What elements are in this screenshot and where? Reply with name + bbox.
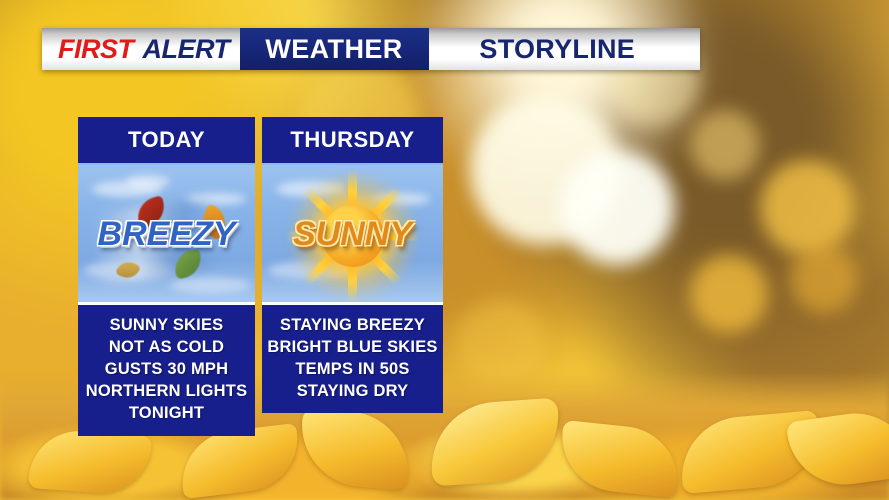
bokeh-light <box>560 150 675 265</box>
forecast-line: GUSTS 30 MPH <box>105 359 228 380</box>
banner-storyline-text: STORYLINE <box>479 36 635 63</box>
forecast-line: NORTHERN LIGHTS <box>86 381 248 402</box>
cloud-wisp <box>126 175 170 188</box>
forecast-details-today: SUNNY SKIES NOT AS COLD GUSTS 30 MPH NOR… <box>78 305 255 436</box>
forecast-line: TONIGHT <box>129 403 204 424</box>
banner-weather-segment: WEATHER <box>240 28 429 70</box>
bokeh-light <box>690 255 768 333</box>
forecast-panel-today: TODAY BREEZY SUNNY SKIES NOT AS COLD GUS… <box>78 117 255 436</box>
cloud-wisp <box>170 277 250 293</box>
bokeh-light <box>690 110 760 180</box>
forecast-line: SUNNY SKIES <box>110 315 224 336</box>
forecast-details-thursday: STAYING BREEZY BRIGHT BLUE SKIES TEMPS I… <box>262 305 443 413</box>
condition-word-sunny: SUNNY <box>262 217 443 251</box>
forecast-line: BRIGHT BLUE SKIES <box>267 337 437 358</box>
panel-day-label: THURSDAY <box>290 127 414 153</box>
condition-word-breezy: BREEZY <box>78 217 255 251</box>
banner-brand-segment: FIRST ALERT <box>42 28 240 70</box>
first-alert-weather-storyline-banner: FIRST ALERT WEATHER STORYLINE <box>42 28 700 70</box>
brand-first-text: FIRST <box>58 36 134 63</box>
panel-day-header-today: TODAY <box>78 117 255 165</box>
panel-day-header-thursday: THURSDAY <box>262 117 443 165</box>
sun-icon: SUNNY <box>262 165 443 305</box>
banner-weather-text: WEATHER <box>265 36 402 63</box>
forecast-panel-thursday: THURSDAY SUNNY STAYING BREEZY BRIGHT BLU… <box>262 117 443 413</box>
bokeh-light <box>790 245 858 313</box>
banner-storyline-segment: STORYLINE <box>429 28 700 70</box>
panel-day-label: TODAY <box>128 127 205 153</box>
forecast-line: TEMPS IN 50S <box>295 359 409 380</box>
breezy-wind-leaves-icon: BREEZY <box>78 165 255 305</box>
bokeh-light <box>760 160 855 255</box>
forecast-line: STAYING DRY <box>297 381 409 402</box>
forecast-line: STAYING BREEZY <box>280 315 425 336</box>
forecast-line: NOT AS COLD <box>109 337 224 358</box>
brand-alert-text: ALERT <box>143 36 230 63</box>
